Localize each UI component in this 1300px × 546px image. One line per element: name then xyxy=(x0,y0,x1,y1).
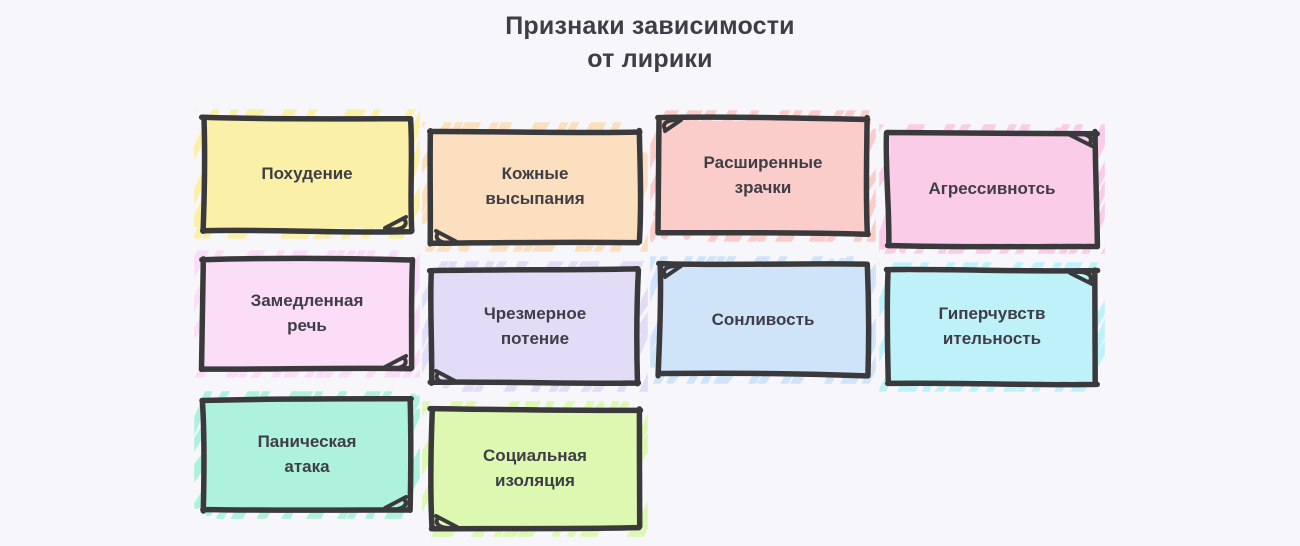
symptom-card[interactable]: Гиперчувств ительность xyxy=(888,271,1096,383)
page-title: Признаки зависимости от лирики xyxy=(0,10,1300,75)
symptom-card[interactable]: Агрессивнотсь xyxy=(888,133,1096,245)
symptom-card[interactable]: Замедленная речь xyxy=(203,259,411,369)
card-label: Агрессивнотсь xyxy=(888,133,1096,245)
symptom-card[interactable]: Чрезмерное потение xyxy=(431,270,639,383)
card-label: Социальная изоляция xyxy=(431,410,639,528)
card-label: Сонливость xyxy=(659,265,867,375)
symptom-card[interactable]: Похудение xyxy=(203,118,411,230)
card-label: Гиперчувств ительность xyxy=(888,271,1096,383)
card-label: Паническая атака xyxy=(203,400,411,510)
symptom-card[interactable]: Кожные высыпания xyxy=(431,131,639,243)
card-label: Чрезмерное потение xyxy=(431,270,639,383)
card-label: Расширенные зрачки xyxy=(659,119,867,233)
symptom-card[interactable]: Расширенные зрачки xyxy=(659,119,867,233)
card-label: Похудение xyxy=(203,118,411,230)
diagram-board: Признаки зависимости от лирики Похудение… xyxy=(0,0,1300,546)
symptom-card[interactable]: Паническая атака xyxy=(203,400,411,510)
symptom-card[interactable]: Социальная изоляция xyxy=(431,410,639,528)
symptom-card[interactable]: Сонливость xyxy=(659,265,867,375)
card-label: Кожные высыпания xyxy=(431,131,639,243)
card-label: Замедленная речь xyxy=(203,259,411,369)
